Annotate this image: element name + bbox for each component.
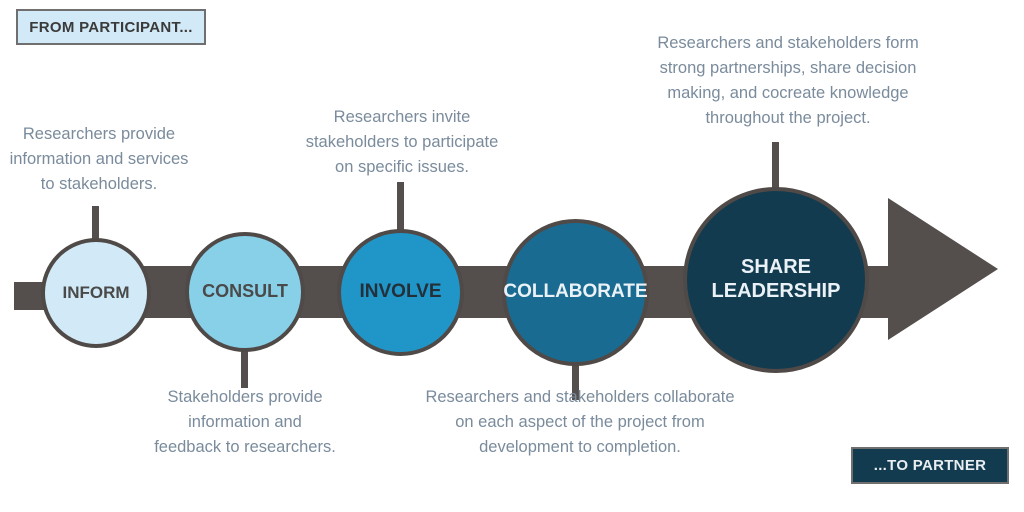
stage-label-consult: CONSULT [196,281,294,302]
from-participant-badge: FROM PARTICIPANT... [16,9,206,45]
stage-circle-consult[interactable]: CONSULT [185,232,305,352]
stage-circle-share-leadership[interactable]: SHARE LEADERSHIP [683,187,869,373]
stem-involve [397,182,404,230]
to-partner-badge: ...TO PARTNER [851,447,1009,484]
engagement-continuum-diagram: FROM PARTICIPANT... ...TO PARTNER INFORM… [0,0,1024,512]
caption-share-leadership: Researchers and stakeholders form strong… [627,31,949,131]
stage-label-share-leadership: SHARE LEADERSHIP [706,256,847,303]
caption-consult: Stakeholders provide information and fee… [150,385,340,460]
stem-share-leadership [772,142,779,190]
caption-inform: Researchers provide information and serv… [4,122,194,197]
stage-label-collaborate: COLLABORATE [497,281,653,303]
stage-circle-involve[interactable]: INVOLVE [337,229,464,356]
stage-circle-collaborate[interactable]: COLLABORATE [502,219,649,366]
stem-consult [241,348,248,388]
stage-label-inform: INFORM [56,283,135,303]
stage-circle-inform[interactable]: INFORM [41,238,151,348]
caption-involve: Researchers invite stakeholders to parti… [286,105,518,180]
caption-collaborate: Researchers and stakeholders collaborate… [406,385,754,460]
stage-label-involve: INVOLVE [354,281,448,303]
